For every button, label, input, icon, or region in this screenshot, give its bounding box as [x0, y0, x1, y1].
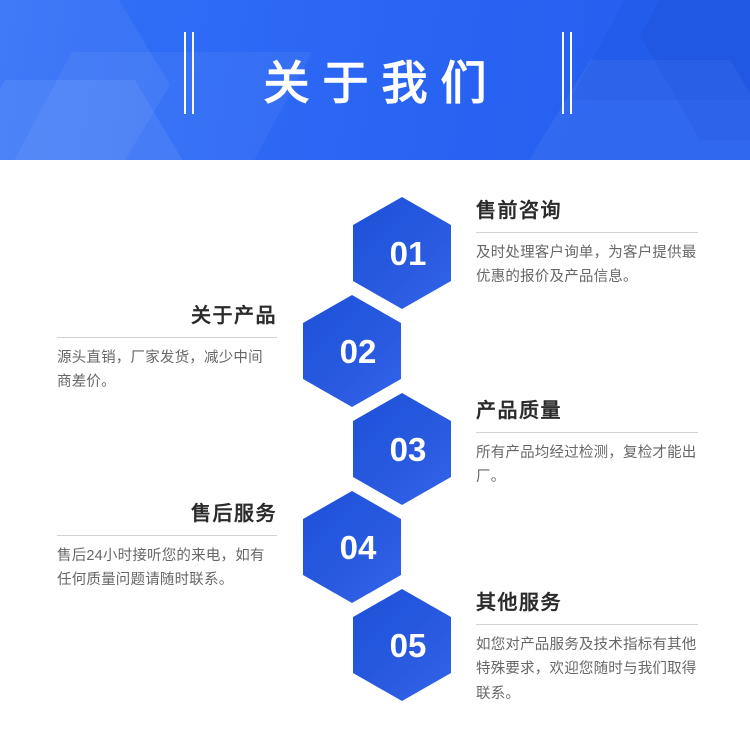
hexagon-number-01: 01: [390, 237, 427, 270]
item-divider-01: [476, 232, 698, 233]
item-text-05: 其他服务 如您对产品服务及技术指标有其他特殊要求，欢迎您随时与我们取得联系。: [476, 592, 698, 706]
hexagon-number-04: 04: [340, 531, 377, 564]
item-text-02: 关于产品 源头直销，厂家发货，减少中间商差价。: [57, 305, 277, 395]
item-description-02: 源头直销，厂家发货，减少中间商差价。: [57, 346, 277, 395]
item-divider-02: [57, 337, 277, 338]
item-title-04: 售后服务: [57, 503, 277, 526]
hexagon-number-02: 02: [340, 335, 377, 368]
item-divider-03: [476, 432, 698, 433]
page-title: 关于我们: [0, 0, 750, 160]
item-text-03: 产品质量 所有产品均经过检测，复检才能出厂。: [476, 400, 698, 490]
item-title-05: 其他服务: [476, 592, 698, 615]
item-description-05: 如您对产品服务及技术指标有其他特殊要求，欢迎您随时与我们取得联系。: [476, 633, 698, 706]
item-title-03: 产品质量: [476, 400, 698, 423]
item-divider-05: [476, 624, 698, 625]
item-divider-04: [57, 535, 277, 536]
item-title-01: 售前咨询: [476, 200, 698, 223]
hexagon-badge-05[interactable]: 05: [348, 583, 456, 707]
page-header-banner: 关于我们: [0, 0, 750, 160]
item-description-04: 售后24小时接听您的来电，如有任何质量问题请随时联系。: [57, 544, 277, 593]
item-text-04: 售后服务 售后24小时接听您的来电，如有任何质量问题请随时联系。: [57, 503, 277, 593]
hexagon-number-03: 03: [390, 433, 427, 466]
service-timeline: 01 售前咨询 及时处理客户询单，为客户提供最优惠的报价及产品信息。 02 关于…: [0, 160, 750, 750]
hexagon-number-05: 05: [390, 629, 427, 662]
item-text-01: 售前咨询 及时处理客户询单，为客户提供最优惠的报价及产品信息。: [476, 200, 698, 290]
item-description-03: 所有产品均经过检测，复检才能出厂。: [476, 441, 698, 490]
item-description-01: 及时处理客户询单，为客户提供最优惠的报价及产品信息。: [476, 241, 698, 290]
item-title-02: 关于产品: [57, 305, 277, 328]
